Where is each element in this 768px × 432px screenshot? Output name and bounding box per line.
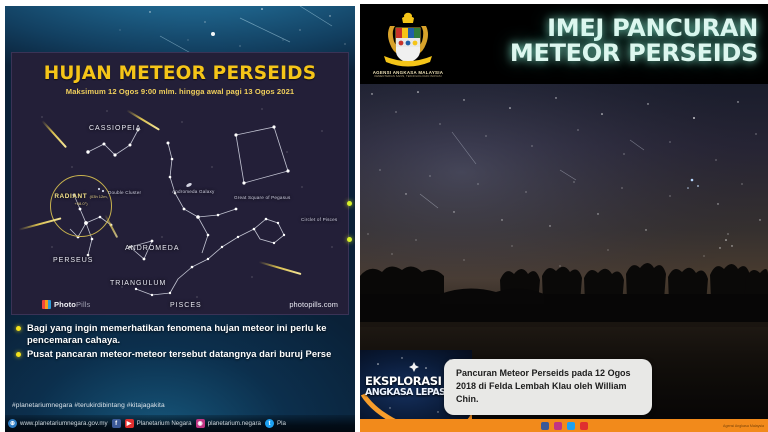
logo-line1: EKSPLORASI: [365, 374, 442, 388]
bullet-dot-icon: [16, 326, 21, 331]
photopills-logo: PhotoPills: [42, 300, 90, 309]
sky-map: RADIANT (03h 12m, +58.0°) CASSIOPEIA PER…: [12, 97, 349, 315]
social-item-youtube[interactable]: ▶ Planetarium Negara: [125, 419, 192, 428]
social-label: Pla: [277, 420, 286, 427]
label-andromeda-galaxy: Andromeda Galaxy: [172, 189, 206, 195]
frame-border-left: [0, 0, 5, 432]
facebook-icon[interactable]: [541, 422, 549, 430]
chart-subtitle: Maksimum 12 Ogos 9:00 mlm. hingga awal p…: [12, 87, 348, 96]
label-perseus: PERSEUS: [53, 257, 93, 264]
right-image-panel: AGENSI ANGKASA MALAYSIA KEMENTERIAN SAIN…: [360, 4, 768, 432]
panel-divider: [355, 0, 360, 432]
label-great-square: Great Square of Pegasus: [234, 195, 278, 201]
social-item-twitter[interactable]: t Pla: [265, 419, 286, 428]
emblem-ministry-name: KEMENTERIAN SAINS, TEKNOLOGI DAN INOVASI: [366, 75, 450, 78]
logo-text: EKSPLORASI ANGKASA LEPAS: [365, 376, 445, 397]
emblem-caption: AGENSI ANGKASA MALAYSIA KEMENTERIAN SAIN…: [366, 70, 450, 78]
label-pisces: PISCES: [170, 302, 202, 309]
photo-caption-box: Pancuran Meteor Perseids pada 12 Ogos 20…: [444, 359, 652, 415]
slide-bullet-list: Bagi yang ingin memerhatikan fenomena hu…: [16, 322, 355, 363]
facebook-icon: f: [112, 419, 121, 428]
label-andromeda: ANDROMEDA: [125, 245, 180, 252]
instagram-icon[interactable]: [554, 422, 562, 430]
left-slide-panel: HUJAN METEOR PERSEIDS Maksimum 12 Ogos 9…: [0, 0, 355, 432]
panel-footer-bar: Agensi Angkasa Malaysia: [360, 419, 768, 432]
radiant-label: RADIANT (03h 12m, +58.0°): [48, 193, 114, 207]
social-bar: ⊕ www.planetariumnegara.gov.my f ▶ Plane…: [0, 415, 355, 432]
slide-progress-dot[interactable]: [347, 201, 352, 206]
social-label: planetarium.negara: [208, 420, 261, 427]
globe-icon: ⊕: [8, 419, 17, 428]
social-item-website[interactable]: ⊕ www.planetariumnegara.gov.my: [8, 419, 108, 428]
bullet-text: pencemaran cahaya.: [27, 334, 120, 347]
footer-note: Agensi Angkasa Malaysia: [723, 424, 764, 428]
bullet-item: Pusat pancaran meteor-meteor tersebut da…: [16, 348, 355, 361]
social-item-facebook[interactable]: f: [112, 419, 121, 428]
twitter-icon: t: [265, 419, 274, 428]
social-label: Planetarium Negara: [137, 420, 192, 427]
bullet-text: Pusat pancaran meteor-meteor tersebut da…: [27, 348, 331, 361]
youtube-icon: ▶: [125, 419, 134, 428]
photopills-wordmark: PhotoPills: [54, 300, 90, 309]
panel-header: AGENSI ANGKASA MALAYSIA KEMENTERIAN SAIN…: [360, 4, 768, 84]
photopills-mark-icon: [42, 300, 51, 309]
photo-caption-text: Pancuran Meteor Perseids pada 12 Ogos 20…: [456, 367, 641, 406]
bullet-dot-icon: [16, 352, 21, 357]
chart-title: HUJAN METEOR PERSEIDS: [12, 63, 348, 84]
photopills-brand1: Photo: [54, 300, 76, 309]
bullet-item-continuation: pencemaran cahaya.: [16, 334, 355, 347]
social-item-instagram[interactable]: ◉ planetarium.negara: [196, 419, 261, 428]
palm-treeline-silhouette: [360, 232, 768, 327]
malaysia-coat-of-arms-icon: [374, 10, 442, 72]
photopills-url: photopills.com: [289, 300, 338, 309]
photopills-brand2: Pills: [76, 300, 90, 309]
twitter-icon[interactable]: [567, 422, 575, 430]
youtube-icon[interactable]: [580, 422, 588, 430]
radiant-label-text: RADIANT: [54, 193, 87, 200]
label-cassiopeia: CASSIOPEIA: [89, 125, 141, 132]
star-chart-card: HUJAN METEOR PERSEIDS Maksimum 12 Ogos 9…: [11, 52, 349, 315]
instagram-icon: ◉: [196, 419, 205, 428]
social-label: www.planetariumnegara.gov.my: [20, 420, 108, 427]
panel-title-line1: IMEJ PANCURAN: [510, 16, 758, 41]
label-triangulum: TRIANGULUM: [110, 280, 166, 287]
slide-progress-dot[interactable]: [347, 237, 352, 242]
frame-border-top: [0, 0, 355, 6]
panel-title: IMEJ PANCURAN METEOR PERSEIDS: [510, 16, 758, 67]
panel-title-line2: METEOR PERSEIDS: [510, 41, 758, 66]
hashtags: #planetariumnegara #terukirdibintang #ki…: [12, 402, 165, 409]
night-sky-photograph: EKSPLORASI ANGKASA LEPAS Pancuran Meteor…: [360, 84, 768, 432]
screenshot-root: HUJAN METEOR PERSEIDS Maksimum 12 Ogos 9…: [0, 0, 768, 432]
logo-line2: ANGKASA LEPAS: [365, 388, 445, 398]
label-double-cluster: Double Cluster: [108, 190, 134, 196]
label-circlet-pisces: Circlet of Pisces: [301, 217, 335, 223]
